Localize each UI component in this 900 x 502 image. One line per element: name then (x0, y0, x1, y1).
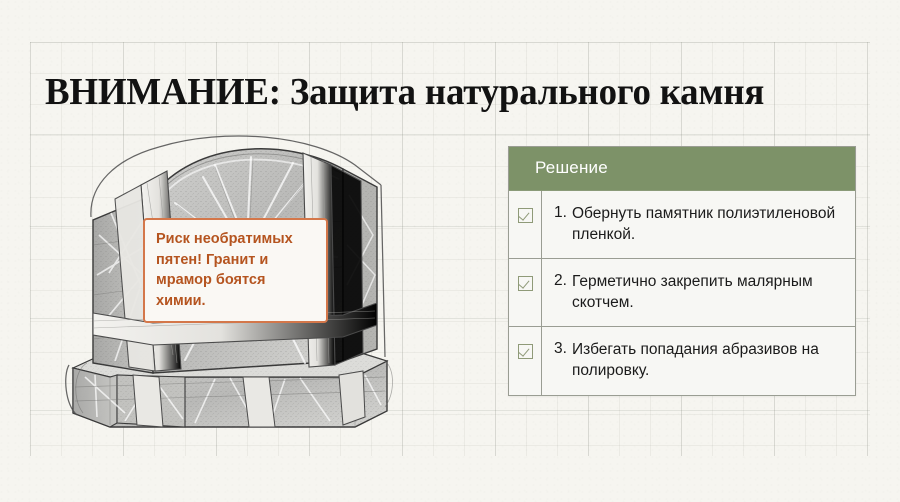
table-header: Решение (509, 147, 855, 191)
row-text: Избегать попадания абразивов на полировк… (572, 327, 855, 394)
checked-checkbox-icon[interactable] (518, 276, 533, 291)
row-text: Герметично закрепить малярным скотчем. (572, 259, 855, 326)
solutions-table: Решение 1. Обернуть памятник полиэтилено… (508, 146, 856, 396)
row-checkbox-cell[interactable] (509, 191, 542, 258)
table-row[interactable]: 2. Герметично закрепить малярным скотчем… (509, 259, 855, 327)
warning-callout: Риск необратимых пятен! Гранит и мрамор … (143, 218, 328, 323)
table-row[interactable]: 1. Обернуть памятник полиэтиленовой плен… (509, 191, 855, 259)
row-checkbox-cell[interactable] (509, 327, 542, 394)
table-row[interactable]: 3. Избегать попадания абразивов на полир… (509, 327, 855, 394)
row-number: 1. (542, 191, 572, 222)
row-text: Обернуть памятник полиэтиленовой пленкой… (572, 191, 855, 258)
checked-checkbox-icon[interactable] (518, 208, 533, 223)
page-title: ВНИМАНИЕ: Защита натурального камня (45, 70, 764, 114)
row-number: 2. (542, 259, 572, 290)
warning-callout-text: Риск необратимых пятен! Гранит и мрамор … (156, 229, 315, 311)
row-checkbox-cell[interactable] (509, 259, 542, 326)
row-number: 3. (542, 327, 572, 358)
checked-checkbox-icon[interactable] (518, 344, 533, 359)
